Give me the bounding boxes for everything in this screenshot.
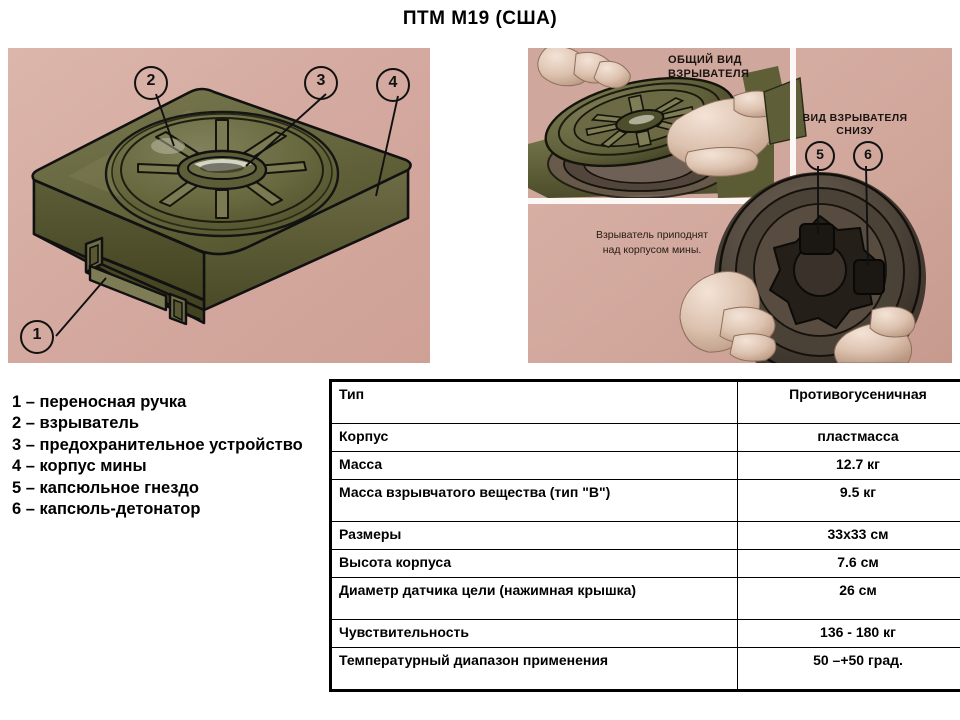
- legend-item-1: 1 – переносная ручка: [12, 392, 312, 413]
- legend-item-2: 2 – взрыватель: [12, 413, 312, 434]
- callout-marker-1: 1: [20, 320, 54, 354]
- table-row: Чувствительность 136 - 180 кг: [331, 620, 960, 648]
- specifications-table: Тип Противогусеничная Корпус пластмасса …: [329, 379, 960, 692]
- legend-item-6: 6 – капсюль-детонатор: [12, 499, 312, 520]
- table-cell-value: 12.7 кг: [738, 452, 960, 480]
- caption-general-view-line1: ОБЩИЙ ВИД: [668, 54, 749, 68]
- callout-marker-2: 2: [134, 66, 168, 100]
- figure-mine-isometric: 2 3 4 1: [8, 48, 430, 363]
- table-row: Температурный диапазон применения 50 –+5…: [331, 648, 960, 691]
- table-row: Масса взрывчатого вещества (тип "В") 9.5…: [331, 480, 960, 522]
- caption-general-view: ОБЩИЙ ВИД ВЗРЫВАТЕЛЯ: [668, 54, 749, 82]
- table-row: Размеры 33х33 см: [331, 522, 960, 550]
- table-cell-param: Масса: [331, 452, 738, 480]
- table-row: Диаметр датчика цели (нажимная крышка) 2…: [331, 578, 960, 620]
- table-cell-value: 9.5 кг: [738, 480, 960, 522]
- table-row: Высота корпуса 7.6 см: [331, 550, 960, 578]
- table-cell-param: Корпус: [331, 424, 738, 452]
- caption-bottom-view: ВИД ВЗРЫВАТЕЛЯ СНИЗУ: [790, 112, 920, 138]
- table-cell-param: Размеры: [331, 522, 738, 550]
- table-cell-param: Чувствительность: [331, 620, 738, 648]
- callout-marker-6: 6: [853, 141, 883, 171]
- figure-fuze-photos: ОБЩИЙ ВИД ВЗРЫВАТЕЛЯ ВИД ВЗРЫВАТЕЛЯ СНИЗ…: [528, 48, 952, 363]
- table-row: Корпус пластмасса: [331, 424, 960, 452]
- caption-bottom-view-line2: СНИЗУ: [790, 125, 920, 138]
- caption-general-view-line2: ВЗРЫВАТЕЛЯ: [668, 68, 749, 82]
- callout-marker-4: 4: [376, 68, 410, 102]
- table-cell-value: пластмасса: [738, 424, 960, 452]
- fuze-photo-composite: [528, 48, 952, 363]
- page-title: ПТМ М19 (США): [0, 8, 960, 30]
- callout-marker-3: 3: [304, 66, 338, 100]
- caption-fuze-raised: Взрыватель приподнят над корпусом мины.: [562, 228, 742, 258]
- table-row: Тип Противогусеничная: [331, 381, 960, 424]
- legend-item-3: 3 – предохранительное устройство: [12, 435, 312, 456]
- legend-item-4: 4 – корпус мины: [12, 456, 312, 477]
- legend-item-5: 5 – капсюльное гнездо: [12, 478, 312, 499]
- caption-bottom-view-line1: ВИД ВЗРЫВАТЕЛЯ: [790, 112, 920, 125]
- table-cell-value: 7.6 см: [738, 550, 960, 578]
- table-cell-value: 26 см: [738, 578, 960, 620]
- table-row: Масса 12.7 кг: [331, 452, 960, 480]
- table-cell-param: Температурный диапазон применения: [331, 648, 738, 691]
- table-cell-value: 136 - 180 кг: [738, 620, 960, 648]
- legend-list: 1 – переносная ручка 2 – взрыватель 3 – …: [12, 392, 312, 521]
- table-cell-value: 33х33 см: [738, 522, 960, 550]
- table-cell-param: Масса взрывчатого вещества (тип "В"): [331, 480, 738, 522]
- table-cell-value: Противогусеничная: [738, 381, 960, 424]
- table-cell-param: Высота корпуса: [331, 550, 738, 578]
- caption-fuze-raised-line1: Взрыватель приподнят: [562, 228, 742, 243]
- callout-marker-5: 5: [805, 141, 835, 171]
- table-cell-value: 50 –+50 град.: [738, 648, 960, 691]
- table-cell-param: Диаметр датчика цели (нажимная крышка): [331, 578, 738, 620]
- caption-fuze-raised-line2: над корпусом мины.: [562, 243, 742, 258]
- table-cell-param: Тип: [331, 381, 738, 424]
- mine-isometric-drawing: [8, 48, 430, 363]
